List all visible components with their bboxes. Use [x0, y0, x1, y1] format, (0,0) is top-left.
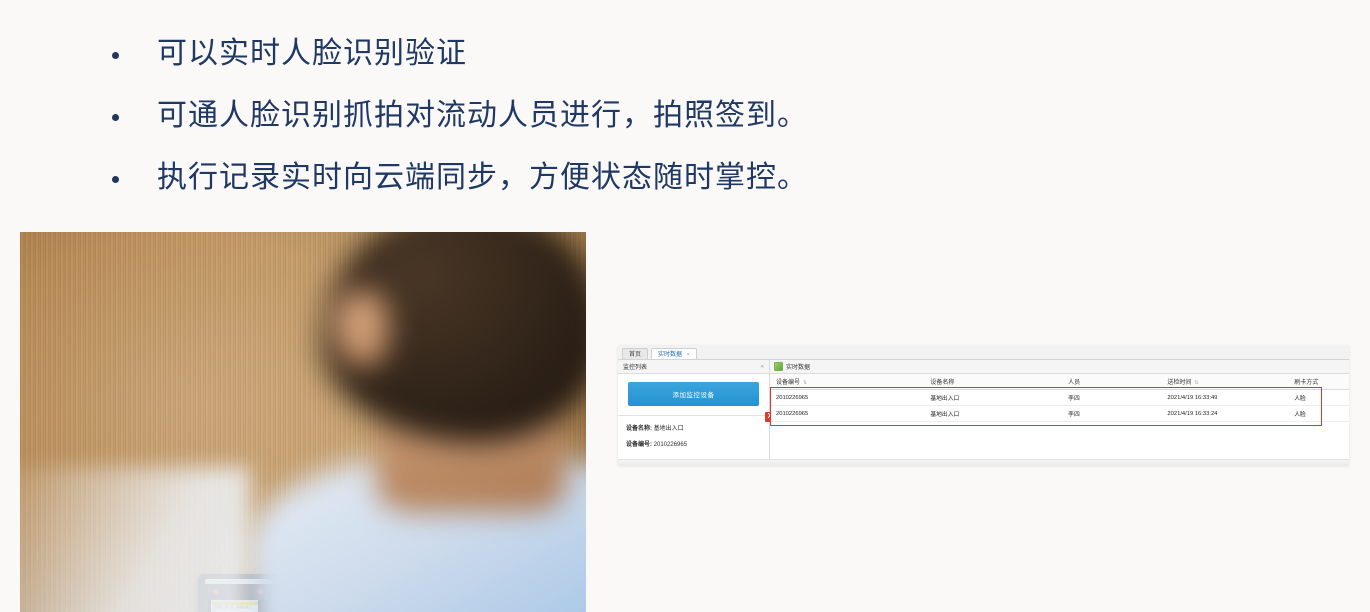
- content-header: 实时数据: [770, 360, 1349, 374]
- bullet-dot-icon: [112, 114, 119, 121]
- add-device-button-wrap: 添加监控设备: [618, 374, 769, 415]
- bullet-dot-icon: [112, 52, 119, 59]
- device-name-value: 基地出入口: [654, 426, 684, 432]
- cell-time: 2021/4/19 16:33:49: [1161, 390, 1288, 406]
- cell-device-no: 2010226965: [770, 406, 924, 422]
- cell-person: 李四: [1062, 390, 1161, 406]
- list-item: 执行记录实时向云端同步，方便状态随时掌控。: [112, 158, 1212, 198]
- content-area: 实时数据 设备编号⇅ 设备名称 人员: [770, 360, 1349, 465]
- panel-bottom-edge: [618, 459, 1349, 465]
- column-label: 刷卡方式: [1294, 380, 1318, 386]
- device-info-card[interactable]: X 设备名称: 基地出入口 设备编号: 2010226965: [618, 416, 769, 448]
- device-no-row: 设备编号: 2010226965: [626, 439, 761, 448]
- column-header-device-no[interactable]: 设备编号⇅: [770, 374, 924, 390]
- cell-person: 李四: [1062, 406, 1161, 422]
- content-panel-title: 实时数据: [786, 362, 810, 371]
- sort-icon[interactable]: ⇅: [1194, 380, 1198, 386]
- blurred-person: [226, 232, 586, 612]
- cell-method: 人脸: [1288, 390, 1349, 406]
- device-no-label: 设备编号:: [626, 442, 652, 448]
- chevron-left-icon[interactable]: «: [761, 364, 764, 370]
- tab-bar: 首页 实时数据 ×: [618, 345, 1349, 360]
- column-label: 设备编号: [776, 380, 800, 386]
- list-item: 可以实时人脸识别验证: [112, 34, 1212, 74]
- photo-face-terminal: 不同颜色口罩人员，请佩戴标准口罩。 请佩戴口罩后重新识别 识别成功，开门放行 确…: [20, 232, 586, 612]
- table-header-row: 设备编号⇅ 设备名称 人员 送检时间⇅ 刷卡方式: [770, 374, 1349, 390]
- table-empty-area: [770, 422, 1349, 458]
- add-monitor-device-button[interactable]: 添加监控设备: [628, 382, 759, 406]
- sidebar-header: 监控列表 «: [618, 360, 769, 374]
- bullet-text: 可以实时人脸识别验证: [157, 34, 467, 74]
- device-name-row: 设备名称: 基地出入口: [626, 423, 761, 432]
- column-header-person[interactable]: 人员: [1062, 374, 1161, 390]
- table-row[interactable]: 2010226965 基地出入口 李四 2021/4/19 16:33:24 人…: [770, 406, 1349, 422]
- tab-home[interactable]: 首页: [622, 348, 648, 359]
- device-no-value: 2010226965: [654, 442, 687, 448]
- cell-device-name: 基地出入口: [924, 406, 1062, 422]
- column-header-device-name[interactable]: 设备名称: [924, 374, 1062, 390]
- realtime-data-table: 设备编号⇅ 设备名称 人员 送检时间⇅ 刷卡方式: [770, 374, 1349, 422]
- app-screenshot-panel: 首页 实时数据 × 监控列表 « 添加监控设备 X 设备名称: 基地出入口: [618, 345, 1349, 465]
- app-body: 监控列表 « 添加监控设备 X 设备名称: 基地出入口 设备编号: 201022…: [618, 360, 1349, 465]
- cell-time: 2021/4/19 16:33:24: [1161, 406, 1288, 422]
- sidebar-title: 监控列表: [623, 362, 647, 371]
- cell-device-no: 2010226965: [770, 390, 924, 406]
- column-label: 人员: [1068, 380, 1080, 386]
- bullet-text: 执行记录实时向云端同步，方便状态随时掌控。: [157, 158, 808, 198]
- cell-device-name: 基地出入口: [924, 390, 1062, 406]
- sidebar: 监控列表 « 添加监控设备 X 设备名称: 基地出入口 设备编号: 201022…: [618, 360, 770, 465]
- column-header-method[interactable]: 刷卡方式: [1288, 374, 1349, 390]
- table-icon: [774, 362, 783, 371]
- column-header-time[interactable]: 送检时间⇅: [1161, 374, 1288, 390]
- tab-realtime-data-label: 实时数据: [658, 352, 682, 358]
- bullet-list: 可以实时人脸识别验证 可通人脸识别抓拍对流动人员进行，拍照签到。 执行记录实时向…: [112, 34, 1212, 220]
- tab-realtime-data[interactable]: 实时数据 ×: [651, 348, 697, 359]
- table-row[interactable]: 2010226965 基地出入口 李四 2021/4/19 16:33:49 人…: [770, 390, 1349, 406]
- list-item: 可通人脸识别抓拍对流动人员进行，拍照签到。: [112, 96, 1212, 136]
- column-label: 设备名称: [930, 380, 954, 386]
- device-name-label: 设备名称:: [626, 426, 652, 432]
- bullet-dot-icon: [112, 176, 119, 183]
- column-label: 送检时间: [1167, 380, 1191, 386]
- photo-blur-haze: [20, 467, 250, 612]
- sort-icon[interactable]: ⇅: [803, 380, 807, 386]
- bullet-text: 可通人脸识别抓拍对流动人员进行，拍照签到。: [157, 96, 808, 136]
- cell-method: 人脸: [1288, 406, 1349, 422]
- close-icon[interactable]: ×: [687, 352, 690, 358]
- tab-home-label: 首页: [629, 352, 641, 358]
